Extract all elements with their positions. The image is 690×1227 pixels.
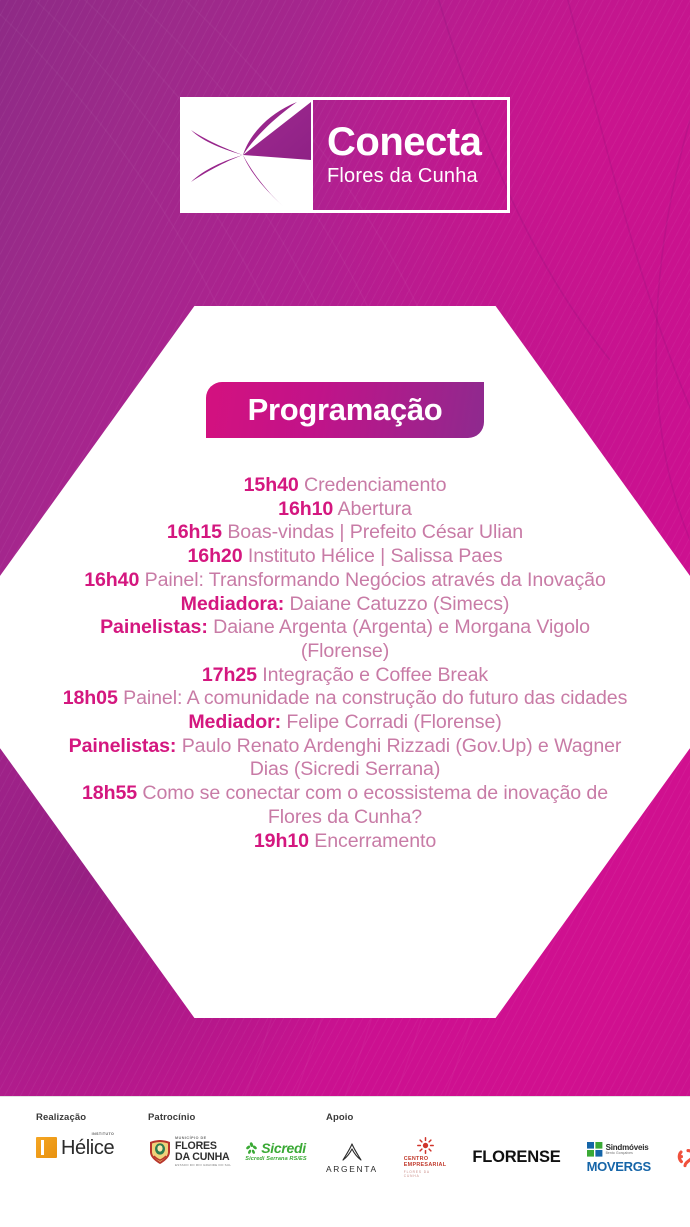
sicredi-name: Sicredi <box>261 1141 306 1155</box>
footer-label-realizacao: Realização <box>36 1112 148 1123</box>
schedule-item: Mediadora: Daiane Catuzzo (Simecs) <box>60 593 630 617</box>
schedule-item-time: 18h05 <box>63 687 118 709</box>
schedule-item-text: Instituto Hélice | Salissa Paes <box>243 545 503 567</box>
sponsor-logo-sicredi: Sicredi Sicredi Serrana RS/ES <box>245 1141 306 1163</box>
schedule-item-time: 16h20 <box>187 545 242 567</box>
footer-group-apoio: Apoio ARGENTA <box>326 1112 690 1178</box>
schedule-item: Painelistas: Paulo Renato Ardenghi Rizza… <box>60 735 630 782</box>
schedule-item-text: Painel: Transformando Negócios através d… <box>139 569 606 591</box>
schedule-item-text: Felipe Corradi (Florense) <box>281 711 502 733</box>
schedule-item-text: Encerramento <box>309 830 436 852</box>
logo-subtitle: Flores da Cunha <box>327 164 507 189</box>
sicredi-icon <box>245 1142 258 1155</box>
sponsor-logo-trino-polo: trino polo <box>677 1145 690 1171</box>
event-poster: Conecta Flores da Cunha Programação 15h4… <box>0 0 690 1227</box>
schedule-list: 15h40 Credenciamento16h10 Abertura16h15 … <box>60 474 630 853</box>
centro-subtitle: FLORES DA CUNHA <box>404 1170 447 1178</box>
helice-name: Hélice <box>61 1138 114 1158</box>
footer-label-patrocinio: Patrocínio <box>148 1112 326 1123</box>
schedule-item-time: 18h55 <box>82 782 137 804</box>
schedule-item-time: Mediadora: <box>181 593 285 615</box>
schedule-item-text: Credenciamento <box>299 474 447 496</box>
sponsor-logo-helice: INSTITUTO Hélice <box>36 1137 114 1158</box>
schedule-item-text: Paulo Renato Ardenghi Rizzadi (Gov.Up) e… <box>176 735 621 781</box>
trino-polo-icon <box>677 1148 690 1168</box>
schedule-item-time: 19h10 <box>254 830 309 852</box>
schedule-item-time: 16h10 <box>278 498 333 520</box>
schedule-item: 15h40 Credenciamento <box>60 474 630 498</box>
schedule-item-time: 17h25 <box>202 664 257 686</box>
schedule-item: 16h40 Painel: Transformando Negócios atr… <box>60 569 630 593</box>
schedule-item: 16h20 Instituto Hélice | Salissa Paes <box>60 545 630 569</box>
sponsors-footer: Realização INSTITUTO Hélice Patrocínio <box>0 1096 690 1227</box>
argenta-icon <box>341 1142 363 1162</box>
schedule-item: 16h15 Boas-vindas | Prefeito César Ulian <box>60 521 630 545</box>
sponsor-logo-florense: FLORENSE <box>472 1148 560 1167</box>
footer-group-patrocinio: Patrocínio MUNICÍPIO DE FLORES <box>148 1112 326 1167</box>
flores-line2: DA CUNHA <box>175 1152 231 1163</box>
sindmoveis-location: Bento Gonçalves <box>606 1152 649 1155</box>
schedule-item-text: Abertura <box>333 498 412 520</box>
schedule-item-time: 16h15 <box>167 521 222 543</box>
florense-name: FLORENSE <box>472 1148 560 1166</box>
section-title: Programação <box>248 392 443 428</box>
logo-wordmark: Conecta Flores da Cunha <box>313 100 507 210</box>
schedule-item-time: 16h40 <box>84 569 139 591</box>
schedule-item-text: Como se conectar com o ecossistema de in… <box>137 782 608 828</box>
sindmoveis-icon <box>587 1142 603 1157</box>
schedule-item: Painelistas: Daiane Argenta (Argenta) e … <box>60 616 630 663</box>
butterfly-propeller-icon <box>183 100 313 210</box>
municipal-crest-icon <box>148 1139 172 1165</box>
schedule-item-time: 15h40 <box>244 474 299 496</box>
schedule-item-time: Painelistas: <box>100 616 208 638</box>
argenta-name: ARGENTA <box>326 1164 378 1174</box>
conecta-logo-lockup: Conecta Flores da Cunha <box>180 97 510 213</box>
schedule-item: 18h55 Como se conectar com o ecossistema… <box>60 782 630 829</box>
schedule-item: 16h10 Abertura <box>60 498 630 522</box>
sponsor-logo-argenta: ARGENTA <box>326 1142 378 1174</box>
centro-name: CENTRO EMPRESARIAL <box>404 1156 447 1168</box>
schedule-item-time: Mediador: <box>188 711 281 733</box>
helice-icon <box>36 1137 57 1158</box>
schedule-item-text: Integração e Coffee Break <box>257 664 488 686</box>
schedule-item-text: Painel: A comunidade na construção do fu… <box>118 687 628 709</box>
movergs-name: MOVERGS <box>587 1160 651 1173</box>
sponsor-logo-centro-empresarial: CENTRO EMPRESARIAL FLORES DA CUNHA <box>404 1137 447 1178</box>
schedule-item-text: Boas-vindas | Prefeito César Ulian <box>222 521 523 543</box>
schedule-item-time: Painelistas: <box>69 735 177 757</box>
sponsor-logo-movergs: Sindmóveis Bento Gonçalves MOVERGS <box>587 1142 651 1173</box>
footer-label-apoio: Apoio <box>326 1112 690 1123</box>
sponsor-logo-flores-da-cunha: MUNICÍPIO DE FLORES DA CUNHA ESTADO DO R… <box>148 1137 231 1167</box>
sicredi-subtitle: Sicredi Serrana RS/ES <box>245 1157 306 1163</box>
flores-line1: FLORES <box>175 1141 231 1152</box>
logo-title: Conecta <box>327 122 507 162</box>
flores-post-label: ESTADO DO RIO GRANDE DO SUL <box>175 1164 231 1167</box>
schedule-item: 17h25 Integração e Coffee Break <box>60 664 630 688</box>
schedule-item: 18h05 Painel: A comunidade na construção… <box>60 687 630 711</box>
schedule-item: Mediador: Felipe Corradi (Florense) <box>60 711 630 735</box>
centro-empresarial-icon <box>417 1137 434 1154</box>
schedule-item: 19h10 Encerramento <box>60 830 630 854</box>
footer-group-realizacao: Realização INSTITUTO Hélice <box>36 1112 148 1158</box>
programacao-banner: Programação <box>206 382 484 438</box>
helice-tagline: INSTITUTO <box>92 1132 115 1136</box>
schedule-item-text: Daiane Argenta (Argenta) e Morgana Vigol… <box>208 616 590 662</box>
schedule-item-text: Daiane Catuzzo (Simecs) <box>284 593 509 615</box>
